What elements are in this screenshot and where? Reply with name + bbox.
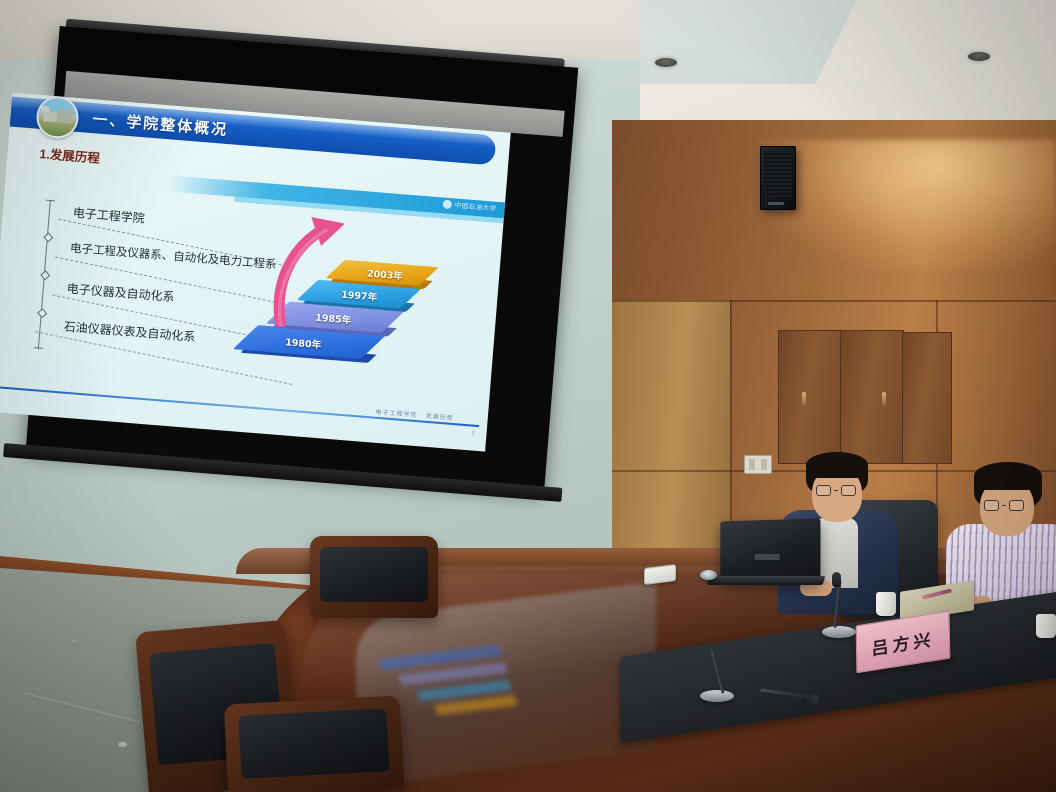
microphone-base <box>822 626 856 638</box>
glasses-lens <box>984 500 999 511</box>
axis-tick-mark <box>37 308 47 318</box>
chair-cushion <box>238 708 389 778</box>
wood-seam <box>612 300 1056 302</box>
power-outlet-icon <box>744 455 772 474</box>
conference-room-photo: 一、学院整体概况 1.发展历程 中国石油大学 电子工程学院 电子工程及仪器系、自… <box>0 0 1056 792</box>
round-object <box>700 570 717 580</box>
slide-canvas: 一、学院整体概况 1.发展历程 中国石油大学 电子工程学院 电子工程及仪器系、自… <box>0 93 511 452</box>
speaker-badge <box>768 202 784 205</box>
person-glasses-icon <box>984 500 1024 511</box>
slide-page-number: 2 <box>471 431 475 437</box>
microphone-base <box>700 690 734 702</box>
glasses-bridge <box>1002 505 1006 506</box>
name-placard-text: 吕方兴 <box>871 625 934 660</box>
person-hair-top <box>806 452 868 478</box>
person-hair-top <box>974 462 1042 490</box>
step-year-label: 1997年 <box>341 287 378 304</box>
chair[interactable] <box>224 695 405 792</box>
microphone-head-icon <box>832 572 841 588</box>
wall-speaker-icon <box>760 146 796 210</box>
axis-tick-mark <box>40 270 50 280</box>
glasses-bridge <box>834 490 838 491</box>
cabinet-handle-icon[interactable] <box>802 392 806 406</box>
watermark-dot-icon <box>442 199 452 209</box>
cabinet-door[interactable] <box>778 330 842 464</box>
projection-screen: 一、学院整体概况 1.发展历程 中国石油大学 电子工程学院 电子工程及仪器系、自… <box>0 22 618 506</box>
badge-building <box>57 109 73 123</box>
axis-tick-mark <box>43 232 53 242</box>
cabinet-door[interactable] <box>840 330 904 464</box>
teacup <box>1036 614 1056 638</box>
downlight-icon <box>655 58 677 67</box>
speaker-grille <box>764 151 792 197</box>
timeline-row-label: 电子工程及仪器系、自动化及电力工程系 <box>69 240 277 273</box>
glasses-lens <box>841 485 856 496</box>
glasses-lens <box>816 485 831 496</box>
growth-arrow-icon <box>262 208 351 332</box>
laptop[interactable] <box>720 518 820 583</box>
glasses-lens <box>1009 500 1024 511</box>
timeline-step: 2003年 <box>334 259 429 286</box>
person-glasses-icon <box>816 485 856 496</box>
downlight-icon <box>968 52 990 61</box>
teacup <box>876 592 896 616</box>
cabinet-handle-icon[interactable] <box>882 392 886 406</box>
laptop-logo-icon <box>755 554 780 560</box>
wall-wash-light <box>760 140 1056 270</box>
floor-speck <box>118 742 127 747</box>
chair[interactable] <box>310 536 438 618</box>
step-year-label: 2003年 <box>366 266 403 283</box>
slide-subtitle: 1.发展历程 <box>39 143 101 167</box>
badge-building <box>43 111 57 122</box>
chair-cushion <box>320 547 428 603</box>
cabinet-door[interactable] <box>902 332 952 464</box>
step-year-label: 1980年 <box>285 334 322 351</box>
laptop-base <box>707 576 826 585</box>
